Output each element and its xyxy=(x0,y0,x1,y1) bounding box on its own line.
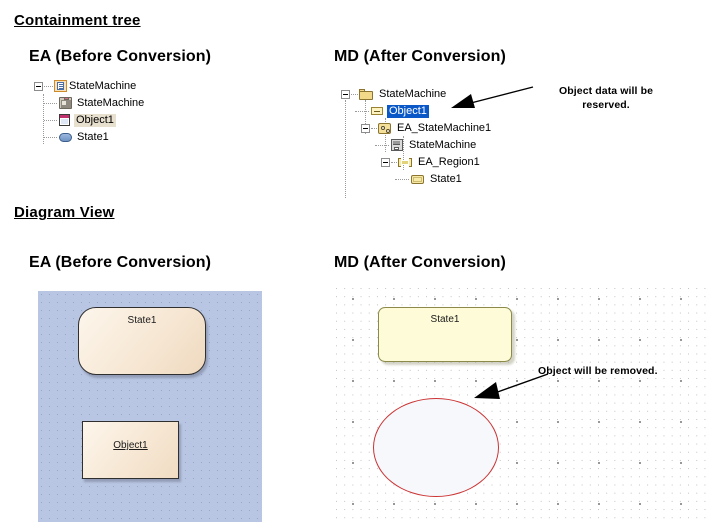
ea-tree-panel-title: EA (Before Conversion) xyxy=(29,48,211,66)
md-diagram-state-label: State1 xyxy=(379,314,511,325)
tree-connector-dots xyxy=(371,128,377,129)
tree-row-label: StateMachine xyxy=(377,88,448,101)
md-tree-panel-title: MD (After Conversion) xyxy=(334,48,506,66)
tree-connector-dots xyxy=(375,145,389,146)
callout-arrow-removed-icon xyxy=(470,372,550,404)
diagram-view-heading: Diagram View xyxy=(14,204,115,221)
tree-row-label: StateMachine xyxy=(407,139,478,152)
ea-diagram-state-label: State1 xyxy=(79,315,205,326)
md-state-icon xyxy=(411,175,424,184)
tree-row-label: EA_Region1 xyxy=(416,156,482,169)
tree-connector-dots xyxy=(395,179,409,180)
tree-connector-dots xyxy=(44,103,57,104)
annotation-object-will-be-removed: Object will be removed. xyxy=(538,364,706,378)
tree-row[interactable]: EA_StateMachine1 xyxy=(361,120,493,136)
tree-connector-line xyxy=(345,100,346,198)
tree-row[interactable]: StateMachine xyxy=(375,137,478,153)
ea-diagram-panel-title: EA (Before Conversion) xyxy=(29,254,211,272)
md-diagram-removed-object-marker-ellipse xyxy=(373,398,499,497)
tree-connector-dots xyxy=(351,94,358,95)
annotation-object-data-reserved: Object data will be reserved. xyxy=(527,84,685,112)
tree-row[interactable]: State1 xyxy=(395,171,464,187)
tree-row[interactable]: StateMachine xyxy=(341,86,448,102)
tree-connector-dots xyxy=(44,137,57,138)
tree-connector-dots xyxy=(44,120,57,121)
callout-arrow-reserved-icon xyxy=(445,86,535,112)
ea-statemachine-root-icon xyxy=(54,80,67,92)
expander-minus-icon[interactable] xyxy=(361,124,370,133)
ea-diagram-object-shape[interactable]: Object1 xyxy=(82,421,179,479)
md-diagram-canvas[interactable]: State1 xyxy=(334,286,706,522)
ea-diagram-state-shape[interactable]: State1 xyxy=(78,307,206,375)
tree-row[interactable]: StateMachine xyxy=(44,95,146,111)
md-folder-icon xyxy=(359,89,373,100)
tree-row-label: EA_StateMachine1 xyxy=(395,122,493,135)
expander-minus-icon[interactable] xyxy=(34,82,43,91)
expander-minus-icon[interactable] xyxy=(341,90,350,99)
ea-object-icon xyxy=(59,114,70,126)
md-diagram-icon xyxy=(391,139,403,151)
tree-row[interactable]: State1 xyxy=(44,129,111,145)
md-diagram-panel-title: MD (After Conversion) xyxy=(334,254,506,272)
expander-minus-icon[interactable] xyxy=(381,158,390,167)
tree-row[interactable]: EA_Region1 xyxy=(381,154,482,170)
md-region-icon xyxy=(398,158,412,167)
tree-connector-dots xyxy=(44,86,53,87)
tree-connector-dots xyxy=(355,111,369,112)
tree-row[interactable]: Object1 xyxy=(355,103,429,119)
ea-state-icon xyxy=(59,133,72,142)
tree-row-label-selected: Object1 xyxy=(74,114,116,127)
tree-row-label: State1 xyxy=(428,173,464,186)
tree-row-label: StateMachine xyxy=(67,80,138,93)
tree-row[interactable]: Object1 xyxy=(44,112,116,128)
tree-connector-dots xyxy=(391,162,397,163)
md-diagram-state-shape[interactable]: State1 xyxy=(378,307,512,362)
ea-diagram-canvas[interactable]: State1 Object1 xyxy=(38,291,262,522)
md-object-icon xyxy=(371,107,383,115)
md-statemachine-icon xyxy=(378,123,391,134)
containment-tree-heading: Containment tree xyxy=(14,12,141,29)
ea-diagram-object-label: Object1 xyxy=(83,440,178,451)
tree-row-label: State1 xyxy=(75,131,111,144)
tree-row-label: StateMachine xyxy=(75,97,146,110)
tree-row[interactable]: StateMachine xyxy=(34,78,138,94)
tree-row-label-selected: Object1 xyxy=(387,105,429,118)
ea-diagram-icon xyxy=(59,97,72,109)
